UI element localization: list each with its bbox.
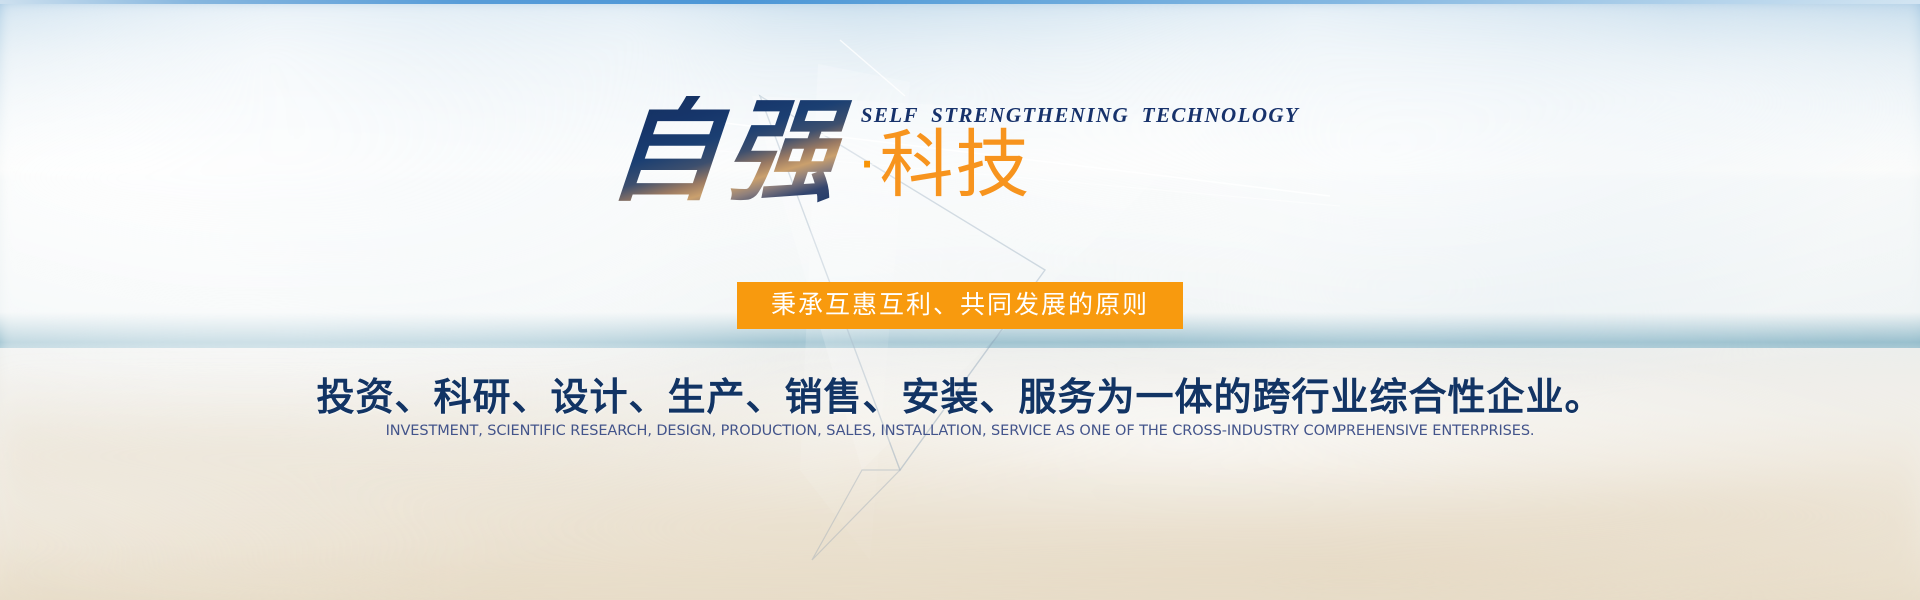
separator-dot-icon: ·: [857, 139, 878, 182]
accent-word-line: · 科技: [855, 130, 1299, 200]
logo-right-stack: SELF STRENGTHENING TECHNOLOGY · 科技: [855, 103, 1299, 208]
slogan-bar-wrapper: 秉承互惠互利、共同发展的原则: [0, 282, 1920, 329]
headline-english: INVESTMENT, SCIENTIFIC RESEARCH, DESIGN,…: [386, 423, 1535, 439]
subtitle-wrapper: INVESTMENT, SCIENTIFIC RESEARCH, DESIGN,…: [0, 423, 1920, 439]
headline-chinese: 投资、科研、设计、生产、销售、安装、服务为一体的跨行业综合性企业。: [316, 366, 1603, 421]
banner-content: 自强 SELF STRENGTHENING TECHNOLOGY · 科技 秉承…: [0, 0, 1920, 600]
slogan-bar: 秉承互惠互利、共同发展的原则: [737, 282, 1183, 329]
brand-calligraphy: 自强: [604, 96, 856, 208]
hero-banner: 自强 SELF STRENGTHENING TECHNOLOGY · 科技 秉承…: [0, 0, 1920, 600]
logo-lockup: 自强 SELF STRENGTHENING TECHNOLOGY · 科技: [0, 96, 1920, 208]
headline-wrapper: 投资、科研、设计、生产、销售、安装、服务为一体的跨行业综合性企业。: [0, 366, 1920, 421]
brand-accent-word: 科技: [879, 130, 1031, 200]
